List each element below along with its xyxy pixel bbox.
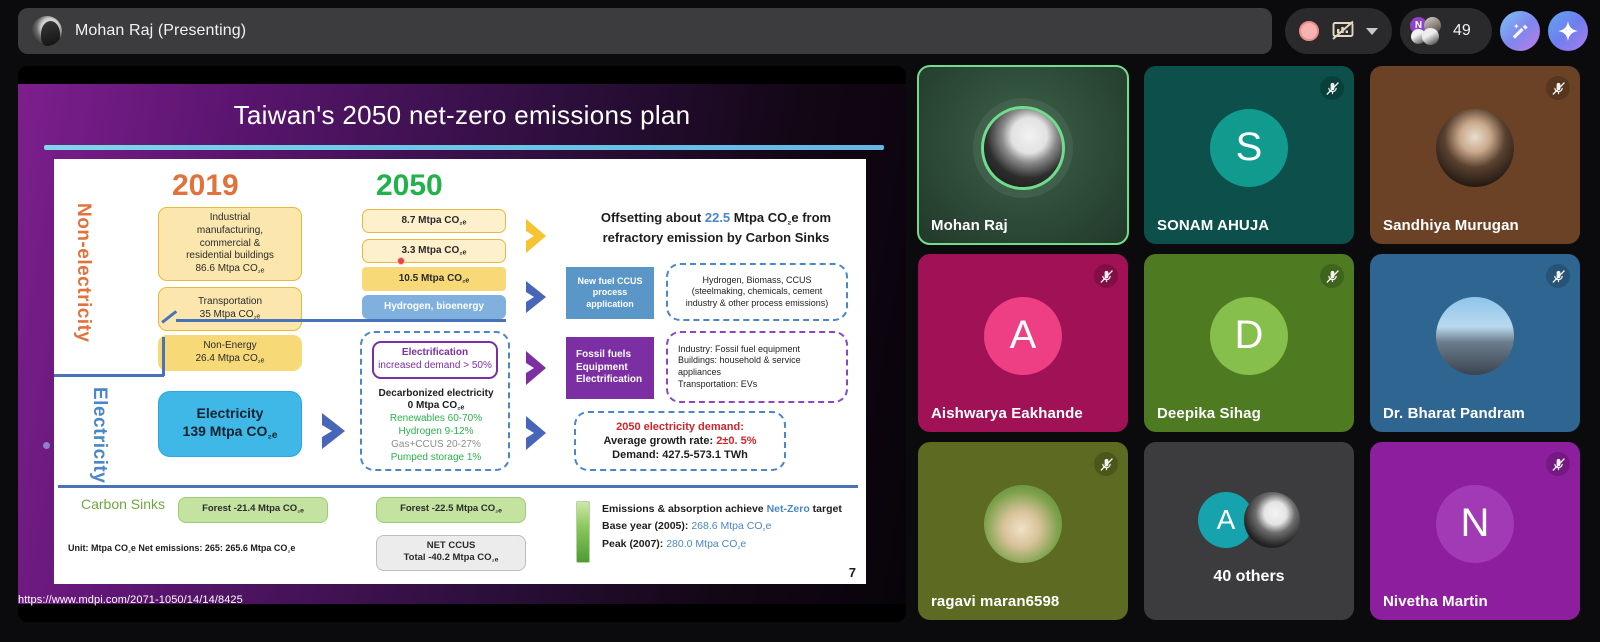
box-transportation-2019: Transportation 35 Mtpa CO₂e <box>158 287 302 331</box>
avatar <box>1436 297 1514 375</box>
mouse-cursor-marker <box>397 257 405 265</box>
participant-name: Aishwarya Eakhande <box>931 405 1083 422</box>
presentation-slide: Taiwan's 2050 net-zero emissions plan ht… <box>18 84 906 604</box>
title-underline <box>44 145 884 150</box>
presentation-off-icon[interactable] <box>1331 20 1355 42</box>
note-ccus: Hydrogen, Biomass, CCUS (steelmaking, ch… <box>668 263 846 321</box>
avatar <box>1436 109 1514 187</box>
year-2019-heading: 2019 <box>172 169 239 203</box>
chevron-arrow-blue-2 <box>524 414 556 457</box>
others-avatar-photo <box>1244 492 1300 548</box>
label-non-electricity: Non-electricity <box>74 203 93 403</box>
participant-tile[interactable]: NNivetha Martin <box>1370 442 1580 620</box>
label-electricity-text: Electricity <box>89 387 110 483</box>
participant-name: Sandhiya Murugan <box>1383 217 1519 234</box>
avatar: N <box>1436 485 1514 563</box>
net-zero-summary: Emissions & absorption achieve Net-Zero … <box>602 501 842 553</box>
label-carbon-sinks: Carbon Sinks <box>78 495 168 513</box>
chevron-down-icon[interactable] <box>1366 28 1378 35</box>
mic-off-icon <box>1094 264 1118 288</box>
box-forest-2050: Forest -22.5 Mtpa CO₂e <box>376 497 526 523</box>
box-2050-hydrogen-bioenergy: Hydrogen, bioenergy <box>362 295 506 319</box>
chevron-arrow-yellow <box>524 217 556 260</box>
presenter-label: Mohan Raj (Presenting) <box>75 22 246 40</box>
participant-tile[interactable]: Sandhiya Murugan <box>1370 66 1580 244</box>
box-new-fuel-ccus: New fuel CCUS process application <box>566 267 654 319</box>
top-bar: Mohan Raj (Presenting) N 49 <box>0 0 1600 62</box>
sparkle-icon[interactable] <box>1548 11 1588 51</box>
participant-name: Dr. Bharat Pandram <box>1383 405 1525 422</box>
participants-button[interactable]: N 49 <box>1400 8 1492 54</box>
participant-tile[interactable]: SSONAM AHUJA <box>1144 66 1354 244</box>
slide-title: Taiwan's 2050 net-zero emissions plan <box>18 100 906 131</box>
figure-canvas: 2019 2050 Non-electricity Electricity In… <box>54 159 866 584</box>
mic-off-icon <box>1546 452 1570 476</box>
avatar: A <box>984 297 1062 375</box>
source-url: https://www.mdpi.com/2071-1050/14/14/842… <box>18 594 243 606</box>
box-electrification: Electrification increased demand > 50% <box>372 341 498 379</box>
gradient-swatch <box>576 501 590 563</box>
box-industrial-2019: Industrial manufacturing, commercial & r… <box>158 207 302 281</box>
mic-off-icon <box>1094 452 1118 476</box>
mic-off-icon <box>1546 264 1570 288</box>
participant-name: SONAM AHUJA <box>1157 217 1269 234</box>
avatar: D <box>1210 297 1288 375</box>
participant-tile[interactable]: Dr. Bharat Pandram <box>1370 254 1580 432</box>
box-electricity-2019: Electricity 139 Mtpa CO₂e <box>158 391 302 457</box>
participant-name: Nivetha Martin <box>1383 593 1488 610</box>
participant-count: 49 <box>1453 22 1471 40</box>
year-2050-heading: 2050 <box>376 169 443 203</box>
mic-off-icon <box>1546 76 1570 100</box>
offset-headline: Offsetting about 22.5 Mtpa CO₂e from ref… <box>566 209 866 247</box>
box-2050-8-7: 8.7 Mtpa CO₂e <box>362 209 506 233</box>
mic-off-icon <box>1320 264 1344 288</box>
participant-tile[interactable]: AAishwarya Eakhande <box>918 254 1128 432</box>
mini-avatar-photo-3 <box>1422 28 1439 45</box>
others-count-label: 40 others <box>1144 568 1354 586</box>
label-non-electricity-text: Non-electricity <box>73 203 94 342</box>
chevron-arrow-purple <box>524 349 556 392</box>
participant-name: Mohan Raj <box>931 217 1008 234</box>
box-decarbonized-electricity: Decarbonized electricity 0 Mtpa CO₂e Ren… <box>366 385 506 467</box>
participant-tile[interactable]: ragavi maran6598 <box>918 442 1128 620</box>
unit-note: Unit: Mtpa CO₂e Net emissions: 265: 265.… <box>68 543 295 554</box>
shared-screen-stage[interactable]: Taiwan's 2050 net-zero emissions plan ht… <box>18 66 906 622</box>
box-2050-electricity-demand: 2050 electricity demand: Average growth … <box>574 411 786 471</box>
slide-bullet-dot <box>43 442 50 449</box>
participant-avatars-stack: N <box>1410 17 1448 45</box>
box-non-energy-2019: Non-Energy 26.4 Mtpa CO₂e <box>158 335 302 371</box>
participant-grid: Mohan RajSSONAM AHUJASandhiya MuruganAAi… <box>918 66 1582 632</box>
box-fossil-fuels-electrification: Fossil fuels Equipment Electrification <box>566 337 654 399</box>
participant-name: Deepika Sihag <box>1157 405 1261 422</box>
magic-pen-icon[interactable] <box>1500 11 1540 51</box>
avatar <box>984 109 1062 187</box>
recording-controls-group <box>1285 8 1392 54</box>
record-circle-icon[interactable] <box>1299 21 1319 41</box>
avatar: S <box>1210 109 1288 187</box>
chevron-arrow-blue-1 <box>524 279 556 320</box>
box-2050-3-3: 3.3 Mtpa CO₂e <box>362 239 506 263</box>
participant-name: ragavi maran6598 <box>931 593 1059 610</box>
participant-tile[interactable]: DDeepika Sihag <box>1144 254 1354 432</box>
label-electricity: Electricity <box>88 387 110 483</box>
presenter-avatar <box>32 16 62 46</box>
slide-page-number: 7 <box>849 565 856 580</box>
avatar <box>984 485 1062 563</box>
connector-line-top <box>176 319 506 322</box>
box-2050-10-5: 10.5 Mtpa CO₂e <box>362 267 506 291</box>
connector-line-left <box>54 374 164 377</box>
note-fossil-fuels: Industry: Fossil fuel equipment Building… <box>672 333 844 401</box>
participant-tile[interactable]: Mohan Raj <box>918 66 1128 244</box>
box-net-ccus: NET CCUS Total -40.2 Mtpa CO₂e <box>376 535 526 571</box>
box-forest-2019: Forest -21.4 Mtpa CO₂e <box>178 497 328 523</box>
mic-off-icon <box>1320 76 1344 100</box>
chevron-arrow-blue-3 <box>320 411 356 456</box>
connector-line-riser <box>162 337 165 376</box>
divider-carbon-sinks <box>58 485 858 488</box>
presenter-pill[interactable]: Mohan Raj (Presenting) <box>18 8 1272 54</box>
participant-tile[interactable]: A40 others <box>1144 442 1354 620</box>
others-avatar-stack: A <box>1198 492 1300 548</box>
